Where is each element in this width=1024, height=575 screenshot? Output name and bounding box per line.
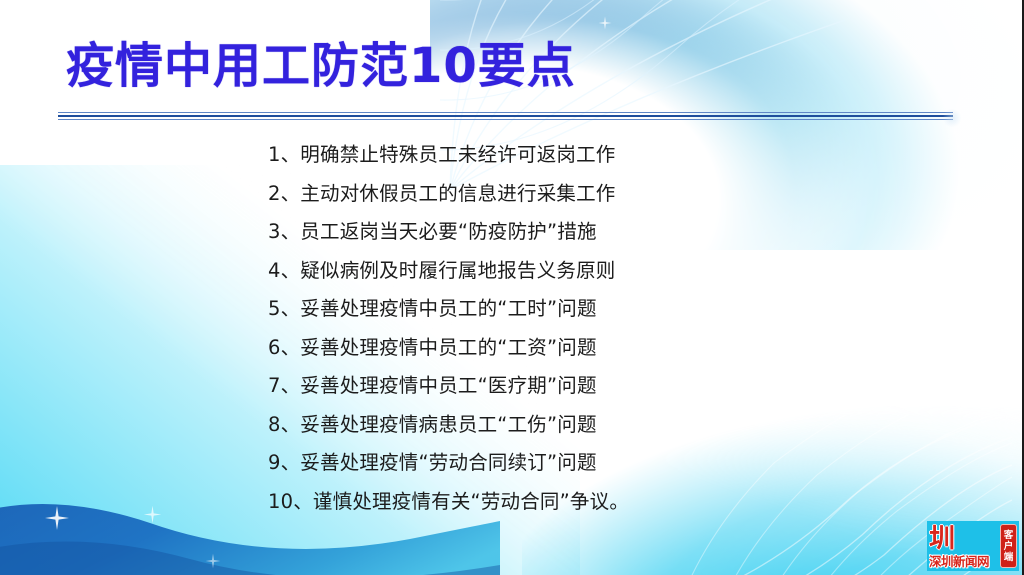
list-item: 1、明确禁止特殊员工未经许可返岗工作 <box>268 136 698 175</box>
badge-char-2: 户 <box>1004 541 1014 552</box>
list-item: 10、谨慎处理疫情有关“劳动合同”争议。 <box>268 483 698 522</box>
logo-site-name: 深圳新闻网 <box>929 554 999 569</box>
list-item: 9、妥善处理疫情“劳动合同续订”问题 <box>268 444 698 483</box>
badge-char-1: 客 <box>1004 530 1014 541</box>
list-item: 8、妥善处理疫情病患员工“工伤”问题 <box>268 406 698 445</box>
divider-end-cap <box>943 108 961 128</box>
logo-main-block: 圳 深圳新闻网 <box>927 521 999 571</box>
list-item: 2、主动对休假员工的信息进行采集工作 <box>268 175 698 214</box>
list-item: 4、疑似病例及时履行属地报告义务原则 <box>268 252 698 291</box>
key-points-list: 1、明确禁止特殊员工未经许可返岗工作 2、主动对休假员工的信息进行采集工作 3、… <box>268 136 698 521</box>
sparkle-icon <box>205 553 221 569</box>
slide-canvas: 疫情中用工防范10要点 1、明确禁止特殊员工未经许可返岗工作 2、主动对休假员工… <box>0 0 1024 575</box>
list-item: 6、妥善处理疫情中员工的“工资”问题 <box>268 329 698 368</box>
divider-line-bottom <box>58 119 953 120</box>
sparkle-icon <box>598 16 612 30</box>
divider-line-middle <box>58 115 953 117</box>
client-app-badge: 客 户 端 <box>1000 524 1017 568</box>
title-divider <box>58 112 953 122</box>
page-title: 疫情中用工防范10要点 <box>66 26 576 96</box>
list-item: 3、员工返岗当天必要“防疫防护”措施 <box>268 213 698 252</box>
logo-mark-character: 圳 <box>929 524 999 554</box>
shenzhen-news-logo-watermark: 圳 深圳新闻网 客 户 端 <box>927 521 1019 571</box>
divider-line-top <box>58 112 953 113</box>
sparkle-icon <box>44 505 70 531</box>
list-item: 5、妥善处理疫情中员工的“工时”问题 <box>268 290 698 329</box>
badge-char-3: 端 <box>1004 552 1014 563</box>
sparkle-icon <box>143 505 162 524</box>
list-item: 7、妥善处理疫情中员工“医疗期”问题 <box>268 367 698 406</box>
